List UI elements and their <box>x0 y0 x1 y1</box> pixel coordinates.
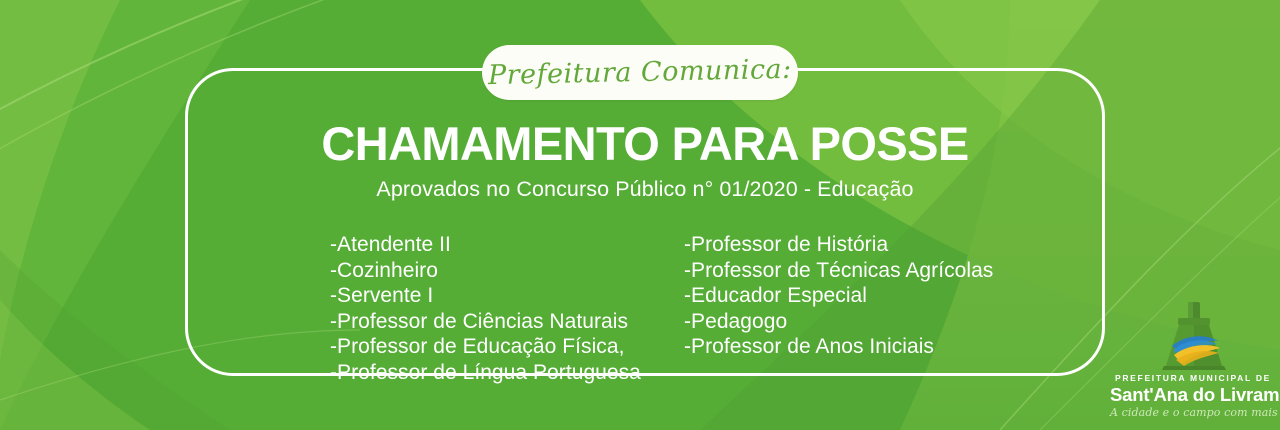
list-item: -Professor de História <box>684 232 1084 258</box>
logo-tagline: A cidade e o campo com mais vigor! <box>1110 406 1276 419</box>
municipal-logo: PREFEITURA MUNICIPAL DE Sant'Ana do Livr… <box>1110 300 1276 422</box>
headline-block: CHAMAMENTO PARA POSSE Aprovados no Concu… <box>185 118 1105 202</box>
positions-left-list: -Atendente II -Cozinheiro -Servente I -P… <box>330 232 672 385</box>
logo-prefix-text: PREFEITURA MUNICIPAL DE <box>1110 373 1276 383</box>
badge-label: Prefeitura Comunica: <box>488 54 792 91</box>
positions-right-column: -Professor de História -Professor de Téc… <box>684 232 1084 385</box>
list-item: -Professor de Ciências Naturais <box>330 309 672 335</box>
list-item: -Educador Especial <box>684 283 1084 309</box>
logo-city-name: Sant'Ana do Livramento <box>1110 384 1276 406</box>
list-item: -Servente I <box>330 283 672 309</box>
positions-right-list: -Professor de História -Professor de Téc… <box>684 232 1084 360</box>
list-item: -Professor de Língua Portuguesa <box>330 360 672 386</box>
page-title: CHAMAMENTO PARA POSSE <box>185 118 1105 170</box>
prefeitura-comunica-badge: Prefeitura Comunica: <box>482 45 798 100</box>
positions-list: -Atendente II -Cozinheiro -Servente I -P… <box>330 232 1090 385</box>
list-item: -Cozinheiro <box>330 258 672 284</box>
list-item: -Professor de Educação Física, <box>330 334 672 360</box>
list-item: -Professor de Técnicas Agrícolas <box>684 258 1084 284</box>
list-item: -Professor de Anos Iniciais <box>684 334 1084 360</box>
page-subtitle: Aprovados no Concurso Público n° 01/2020… <box>185 176 1105 202</box>
list-item: -Atendente II <box>330 232 672 258</box>
positions-left-column: -Atendente II -Cozinheiro -Servente I -P… <box>330 232 672 385</box>
announcement-banner: Prefeitura Comunica: CHAMAMENTO PARA POS… <box>0 0 1280 430</box>
monument-bell-icon <box>1110 300 1276 372</box>
list-item: -Pedagogo <box>684 309 1084 335</box>
